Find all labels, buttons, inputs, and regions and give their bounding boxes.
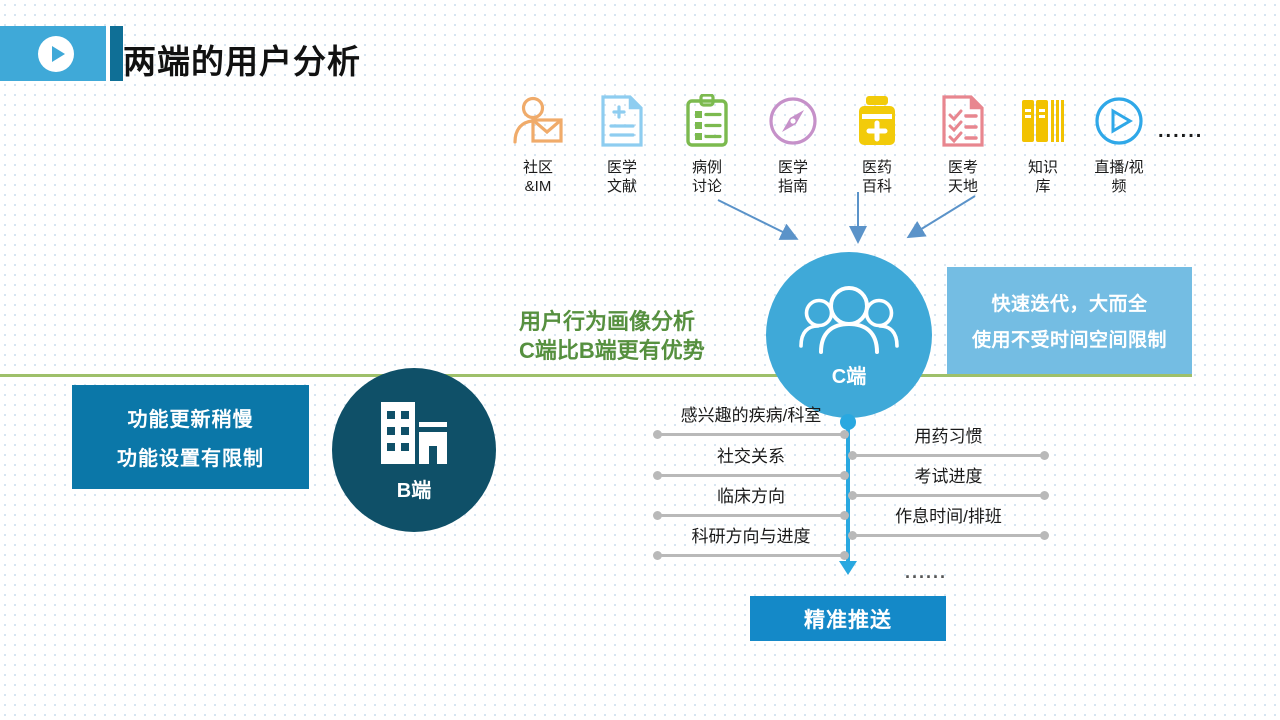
books-icon (1000, 92, 1086, 150)
icon-item-live-video[interactable]: 直播/视 频 (1076, 92, 1162, 196)
timeline-connector (654, 554, 848, 557)
icon-label: 社区 &IM (495, 158, 581, 196)
icon-item-encyclopedia[interactable]: 医药 百科 (834, 92, 920, 196)
timeline-cap-left (653, 430, 662, 439)
timeline-item-label: 用药习惯 (849, 422, 1048, 447)
timeline-connector (654, 474, 848, 477)
icon-item-literature[interactable]: 医学 文献 (579, 92, 665, 196)
icon-label: 医考 天地 (920, 158, 1006, 196)
icon-item-guideline[interactable]: 医学 指南 (750, 92, 836, 196)
icon-label-line2: 库 (1000, 177, 1086, 196)
icon-label: 病例 讨论 (664, 158, 750, 196)
icon-label: 医学 指南 (750, 158, 836, 196)
page-title: 两端的用户分析 (123, 35, 361, 83)
timeline-cap-right (1040, 531, 1049, 540)
icon-label-line2: &IM (495, 177, 581, 196)
comparison-note-line1: 用户行为画像分析 (519, 307, 759, 336)
timeline-cap-left (653, 471, 662, 480)
timeline-cap-left (653, 551, 662, 560)
timeline-item-label: 考试进度 (849, 462, 1048, 487)
timeline-cap-left (653, 511, 662, 520)
timeline-item-left-2: 社交关系 (654, 447, 848, 477)
icon-label: 知识 库 (1000, 158, 1086, 196)
b-callout-line2: 功能设置有限制 (117, 442, 264, 471)
timeline-connector (849, 534, 1048, 537)
c-callout-line2: 使用不受时间空间限制 (972, 325, 1167, 352)
icon-item-exam[interactable]: 医考 天地 (920, 92, 1006, 196)
timeline-cap-right (840, 511, 849, 520)
timeline-connector (654, 433, 848, 436)
b-side-callout: 功能更新稍慢 功能设置有限制 (72, 385, 309, 489)
timeline-item-left-1: 感兴趣的疾病/科室 (654, 406, 848, 436)
timeline-item-right-3: 作息时间/排班 (849, 507, 1048, 537)
icon-label-line2: 天地 (920, 177, 1006, 196)
compass-icon (750, 92, 836, 150)
icon-label-line2: 百科 (834, 177, 920, 196)
medicine-bottle-icon (834, 92, 920, 150)
timeline-cap-right (840, 430, 849, 439)
user-group-icon (799, 282, 899, 358)
icon-label-line1: 医药 (834, 158, 920, 177)
timeline-cap-left (848, 531, 857, 540)
timeline-ellipsis: ...... (905, 562, 947, 583)
header-accent-bar (110, 26, 123, 81)
icon-label-line1: 医学 (750, 158, 836, 177)
c-side-label: C端 (832, 360, 866, 389)
icon-label-line2: 指南 (750, 177, 836, 196)
icon-label-line1: 医考 (920, 158, 1006, 177)
b-callout-line1: 功能更新稍慢 (128, 403, 254, 432)
c-callout-line1: 快速迭代，大而全 (991, 289, 1147, 316)
comparison-note: 用户行为画像分析 C端比B端更有优势 (519, 307, 759, 365)
c-side-circle[interactable]: C端 (766, 252, 932, 418)
timeline-item-label: 社交关系 (654, 442, 848, 467)
checklist-doc-icon (920, 92, 1006, 150)
comparison-note-line2: C端比B端更有优势 (519, 336, 759, 365)
icon-label-line1: 社区 (495, 158, 581, 177)
b-side-label: B端 (397, 474, 431, 503)
timeline-item-label: 作息时间/排班 (849, 502, 1048, 527)
top-ellipsis: ...... (1158, 120, 1203, 143)
play-circle-icon (38, 36, 74, 72)
icon-item-community[interactable]: 社区 &IM (495, 92, 581, 196)
timeline-item-right-2: 考试进度 (849, 467, 1048, 497)
timeline-cap-right (1040, 491, 1049, 500)
timeline-arrowhead-icon (839, 561, 857, 575)
precision-push-label: 精准推送 (804, 604, 892, 634)
slide-canvas: 两端的用户分析 社区 &IM (0, 0, 1280, 720)
icon-label-line1: 知识 (1000, 158, 1086, 177)
green-axis-line (0, 374, 1192, 377)
clipboard-list-icon (664, 92, 750, 150)
icon-item-knowledge-base[interactable]: 知识 库 (1000, 92, 1086, 196)
timeline-connector (654, 514, 848, 517)
icon-item-case-discussion[interactable]: 病例 讨论 (664, 92, 750, 196)
timeline-item-left-4: 科研方向与进度 (654, 527, 848, 557)
precision-push-box: 精准推送 (750, 596, 946, 641)
play-triangle-icon (52, 46, 65, 62)
timeline-cap-right (1040, 451, 1049, 460)
timeline-cap-left (848, 451, 857, 460)
timeline-cap-left (848, 491, 857, 500)
icon-label-line2: 讨论 (664, 177, 750, 196)
timeline-connector (849, 454, 1048, 457)
timeline-item-left-3: 临床方向 (654, 487, 848, 517)
office-building-icon (377, 398, 451, 470)
c-side-callout: 快速迭代，大而全 使用不受时间空间限制 (947, 267, 1192, 374)
icon-label-line2: 频 (1076, 177, 1162, 196)
icon-label-line2: 文献 (579, 177, 665, 196)
b-side-circle[interactable]: B端 (332, 368, 496, 532)
icon-label-line1: 病例 (664, 158, 750, 177)
icon-label: 直播/视 频 (1076, 158, 1162, 196)
person-message-icon (495, 92, 581, 150)
timeline-cap-right (840, 551, 849, 560)
icon-label-line1: 医学 (579, 158, 665, 177)
timeline-cap-right (840, 471, 849, 480)
timeline-item-right-1: 用药习惯 (849, 427, 1048, 457)
icon-label-line1: 直播/视 (1076, 158, 1162, 177)
timeline-item-label: 科研方向与进度 (654, 522, 848, 547)
icon-label: 医学 文献 (579, 158, 665, 196)
timeline-item-label: 感兴趣的疾病/科室 (654, 401, 848, 426)
play-circle-icon (1076, 92, 1162, 150)
icon-label: 医药 百科 (834, 158, 920, 196)
timeline-item-label: 临床方向 (654, 482, 848, 507)
timeline-connector (849, 494, 1048, 497)
document-plus-icon (579, 92, 665, 150)
